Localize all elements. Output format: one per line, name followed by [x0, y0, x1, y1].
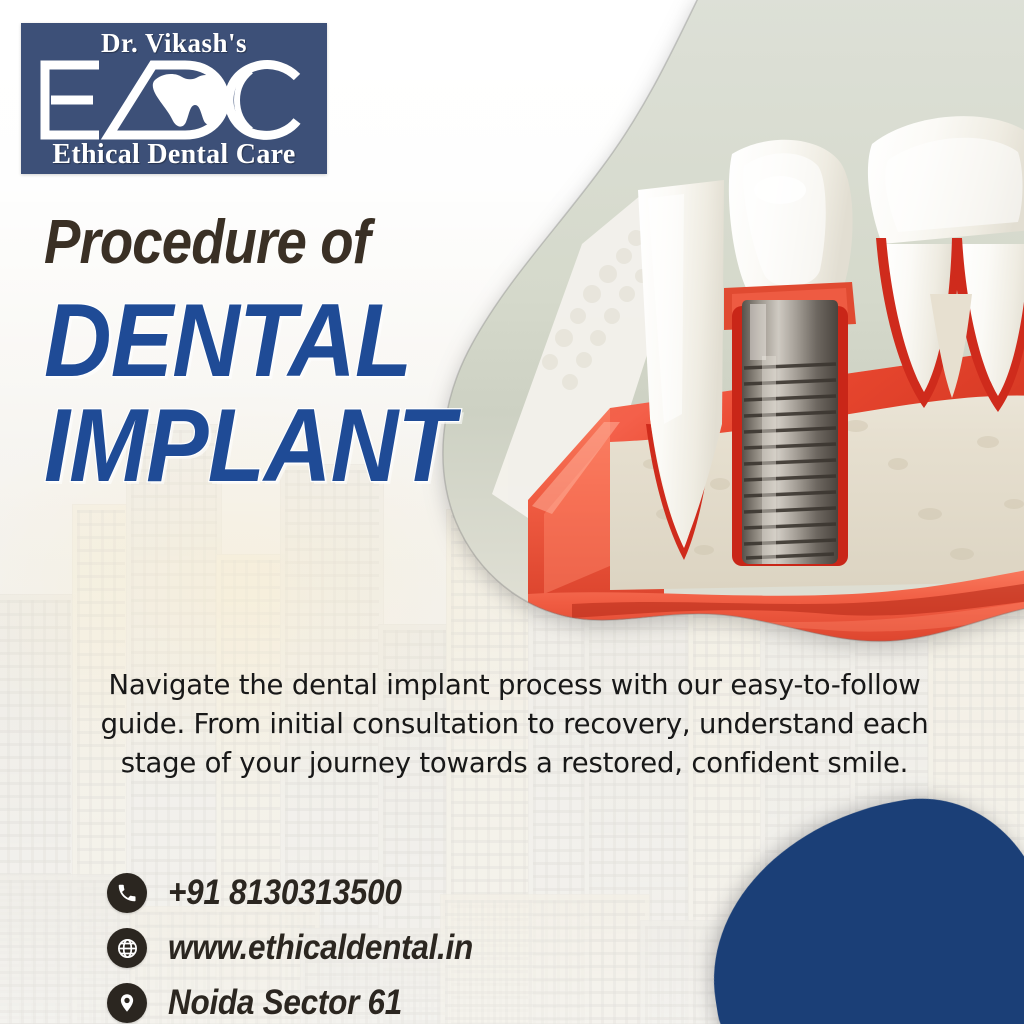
dental-implant-photo	[432, 0, 1024, 670]
logo-monogram-edc	[35, 59, 313, 141]
contact-website-label: www.ethicaldental.in	[168, 928, 473, 968]
contact-row-website[interactable]: www.ethicaldental.in	[107, 924, 507, 972]
contact-address-label: Noida Sector 61	[168, 983, 402, 1023]
contact-block: +91 8130313500 www.ethicaldental.in	[107, 869, 507, 1024]
contact-phone-label: +91 8130313500	[168, 873, 402, 913]
body-paragraph: Navigate the dental implant process with…	[62, 666, 967, 783]
headline-line-1: DENTAL	[44, 290, 431, 393]
globe-icon	[107, 928, 147, 968]
tooth-icon	[153, 74, 224, 127]
headline-eyebrow: Procedure of	[44, 212, 422, 274]
location-pin-icon	[107, 983, 147, 1023]
phone-icon	[107, 873, 147, 913]
contact-row-address[interactable]: Noida Sector 61	[107, 979, 507, 1024]
logo-tagline: Ethical Dental Care	[21, 139, 327, 171]
logo[interactable]: Dr. Vikash's Ethical Dental Care	[21, 23, 327, 174]
logo-doctor-name: Dr. Vikash's	[21, 28, 327, 59]
headline-line-2: IMPLANT	[44, 395, 431, 498]
poster-canvas: Dr. Vikash's Ethical Dental Care Procedu…	[0, 0, 1024, 1024]
contact-row-phone[interactable]: +91 8130313500	[107, 869, 507, 917]
headline: Procedure of DENTAL IMPLANT	[44, 212, 474, 498]
